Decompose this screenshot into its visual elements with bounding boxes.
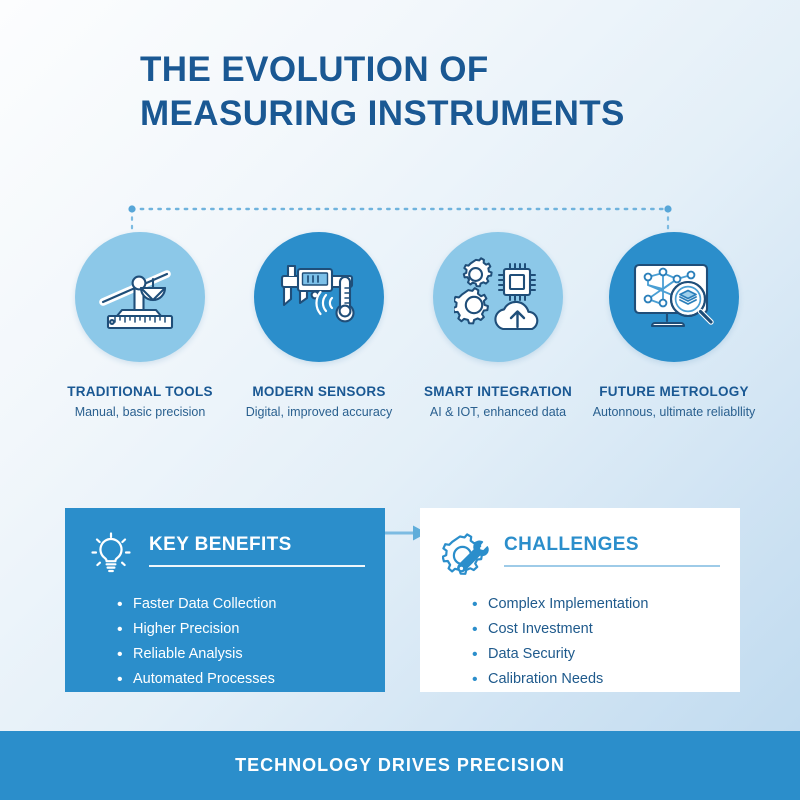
stage-label: FUTURE METROLOGY — [586, 384, 762, 399]
footer-banner: TECHNOLOGY DRIVES PRECISION — [0, 731, 800, 800]
page-title: THE EVOLUTION OF MEASURING INSTRUMENTS — [140, 48, 760, 136]
stage-label: MODERN SENSORS — [231, 384, 407, 399]
digital-caliper-and-thermometer-icon — [274, 258, 364, 336]
panel-key-benefits: KEY BENEFITS Faster Data Collection High… — [65, 508, 385, 692]
stage-smart-integration[interactable]: SMART INTEGRATION AI & IOT, enhanced dat… — [410, 232, 586, 419]
stage-description: Autonnous, ultimate reliabllity — [586, 405, 762, 419]
panel-challenges: CHALLENGES Complex Implementation Cost I… — [420, 508, 740, 692]
stage-label: SMART INTEGRATION — [410, 384, 586, 399]
title-line-2: MEASURING INSTRUMENTS — [140, 92, 760, 136]
gears-chip-cloud-icon — [454, 257, 542, 337]
benefits-list: Faster Data Collection Higher Precision … — [117, 592, 365, 692]
summary-panels: KEY BENEFITS Faster Data Collection High… — [0, 508, 800, 692]
stage-description: Digital, improved accuracy — [231, 405, 407, 419]
list-item: Reliable Analysis — [117, 642, 365, 667]
stage-future-metrology[interactable]: FUTURE METROLOGY Autonnous, ultimate rel… — [586, 232, 762, 419]
balance-scale-and-ruler-icon — [97, 260, 183, 334]
stage-description: Manual, basic precision — [52, 405, 228, 419]
infographic-canvas: THE EVOLUTION OF MEASURING INSTRUMENTS — [0, 0, 800, 800]
stage-circle — [75, 232, 205, 362]
list-item: Automated Processes — [117, 667, 365, 692]
title-line-1: THE EVOLUTION OF — [140, 48, 760, 92]
list-item: Complex Implementation — [472, 592, 720, 617]
list-item: Higher Precision — [117, 617, 365, 642]
stage-modern-sensors[interactable]: MODERN SENSORS Digital, improved accurac… — [231, 232, 407, 419]
list-item: Cost Investment — [472, 617, 720, 642]
evolution-flow: TRADITIONAL TOOLS Manual, basic precisio… — [0, 232, 800, 422]
panel-header: CHALLENGES — [442, 530, 720, 578]
stage-circle — [609, 232, 739, 362]
lightbulb-icon — [87, 530, 135, 578]
panel-title-wrap: KEY BENEFITS — [149, 530, 365, 567]
gear-wrench-icon — [442, 530, 490, 578]
panel-divider — [149, 565, 365, 567]
panel-header: KEY BENEFITS — [87, 530, 365, 578]
stage-traditional-tools[interactable]: TRADITIONAL TOOLS Manual, basic precisio… — [52, 232, 228, 419]
monitor-network-magnifier-icon — [629, 259, 719, 335]
stage-circle — [433, 232, 563, 362]
panel-title: KEY BENEFITS — [149, 534, 365, 556]
stage-description: AI & IOT, enhanced data — [410, 405, 586, 419]
panel-divider — [504, 565, 720, 567]
footer-tagline: TECHNOLOGY DRIVES PRECISION — [235, 755, 565, 776]
list-item: Faster Data Collection — [117, 592, 365, 617]
stage-circle — [254, 232, 384, 362]
list-item: Data Security — [472, 642, 720, 667]
panel-title: CHALLENGES — [504, 534, 720, 556]
stage-label: TRADITIONAL TOOLS — [52, 384, 228, 399]
challenges-list: Complex Implementation Cost Investment D… — [472, 592, 720, 692]
panel-title-wrap: CHALLENGES — [504, 530, 720, 567]
list-item: Calibration Needs — [472, 667, 720, 692]
